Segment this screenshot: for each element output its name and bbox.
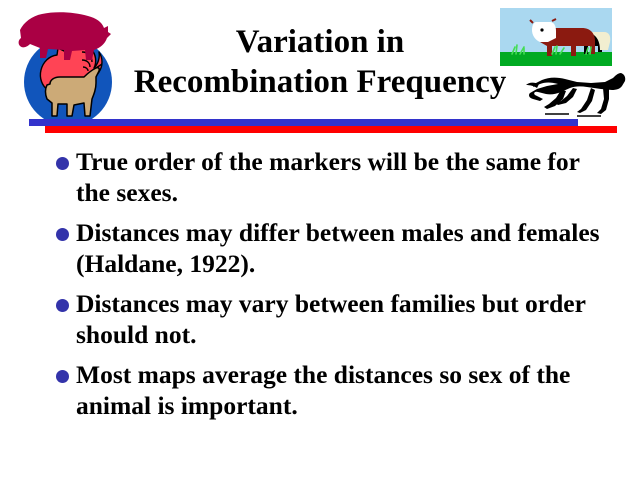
bullet-point-icon <box>56 299 69 312</box>
divider-bar-red <box>45 126 617 133</box>
list-item: Distances may differ between males and f… <box>52 217 612 279</box>
divider-bar-blue <box>29 119 578 126</box>
galloping-horse-silhouette-icon <box>525 68 630 120</box>
presentation-slide: Variation in Recombination Frequency <box>0 0 640 480</box>
list-item-text: True order of the markers will be the sa… <box>76 146 612 208</box>
slide-header: Variation in Recombination Frequency <box>0 0 640 140</box>
list-item: Distances may vary between families but … <box>52 288 612 350</box>
list-item: Most maps average the distances so sex o… <box>52 359 612 421</box>
page-title: Variation in Recombination Frequency <box>100 22 540 102</box>
list-item-text: Distances may vary between families but … <box>76 288 612 350</box>
bullet-point-icon <box>56 157 69 170</box>
cattle-in-pasture-photo <box>500 8 612 66</box>
bullet-point-icon <box>56 228 69 241</box>
bullet-list: True order of the markers will be the sa… <box>52 146 612 430</box>
list-item-text: Distances may differ between males and f… <box>76 217 612 279</box>
bullet-point-icon <box>56 370 69 383</box>
title-line-2: Recombination Frequency <box>100 62 540 102</box>
title-line-1: Variation in <box>100 22 540 62</box>
list-item-text: Most maps average the distances so sex o… <box>76 359 612 421</box>
list-item: True order of the markers will be the sa… <box>52 146 612 208</box>
